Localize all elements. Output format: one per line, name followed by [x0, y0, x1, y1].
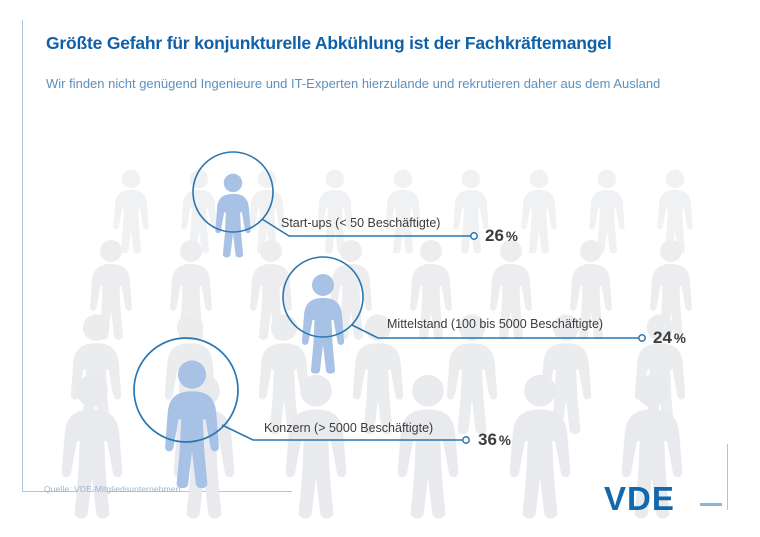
- value-number-startups: 26: [485, 226, 504, 245]
- page-title: Größte Gefahr für konjunkturelle Abkühlu…: [46, 33, 706, 54]
- value-unit-mittelstand: %: [674, 331, 686, 346]
- vde-logo-dash: [700, 503, 722, 506]
- infographic-canvas: Größte Gefahr für konjunkturelle Abkühlu…: [0, 0, 760, 537]
- value-unit-konzern: %: [499, 433, 511, 448]
- page-subtitle: Wir finden nicht genügend Ingenieure und…: [46, 74, 686, 93]
- callout-label-konzern: Konzern (> 5000 Beschäftigte): [264, 421, 433, 435]
- leader-endpoint-konzern: [463, 437, 469, 443]
- source-note: Quelle: VDE-Mitgliedsunternehmen: [44, 484, 180, 494]
- callout-label-startups: Start-ups (< 50 Beschäftigte): [281, 216, 440, 230]
- leader-endpoint-mittelstand: [639, 335, 645, 341]
- callout-label-mittelstand: Mittelstand (100 bis 5000 Beschäftigte): [387, 317, 603, 331]
- value-number-mittelstand: 24: [653, 328, 672, 347]
- vde-logo: VDE: [604, 482, 675, 515]
- value-number-konzern: 36: [478, 430, 497, 449]
- callout-value-startups: 26%: [485, 226, 518, 246]
- callout-value-mittelstand: 24%: [653, 328, 686, 348]
- leader-endpoint-startups: [471, 233, 477, 239]
- callout-value-konzern: 36%: [478, 430, 511, 450]
- value-unit-startups: %: [506, 229, 518, 244]
